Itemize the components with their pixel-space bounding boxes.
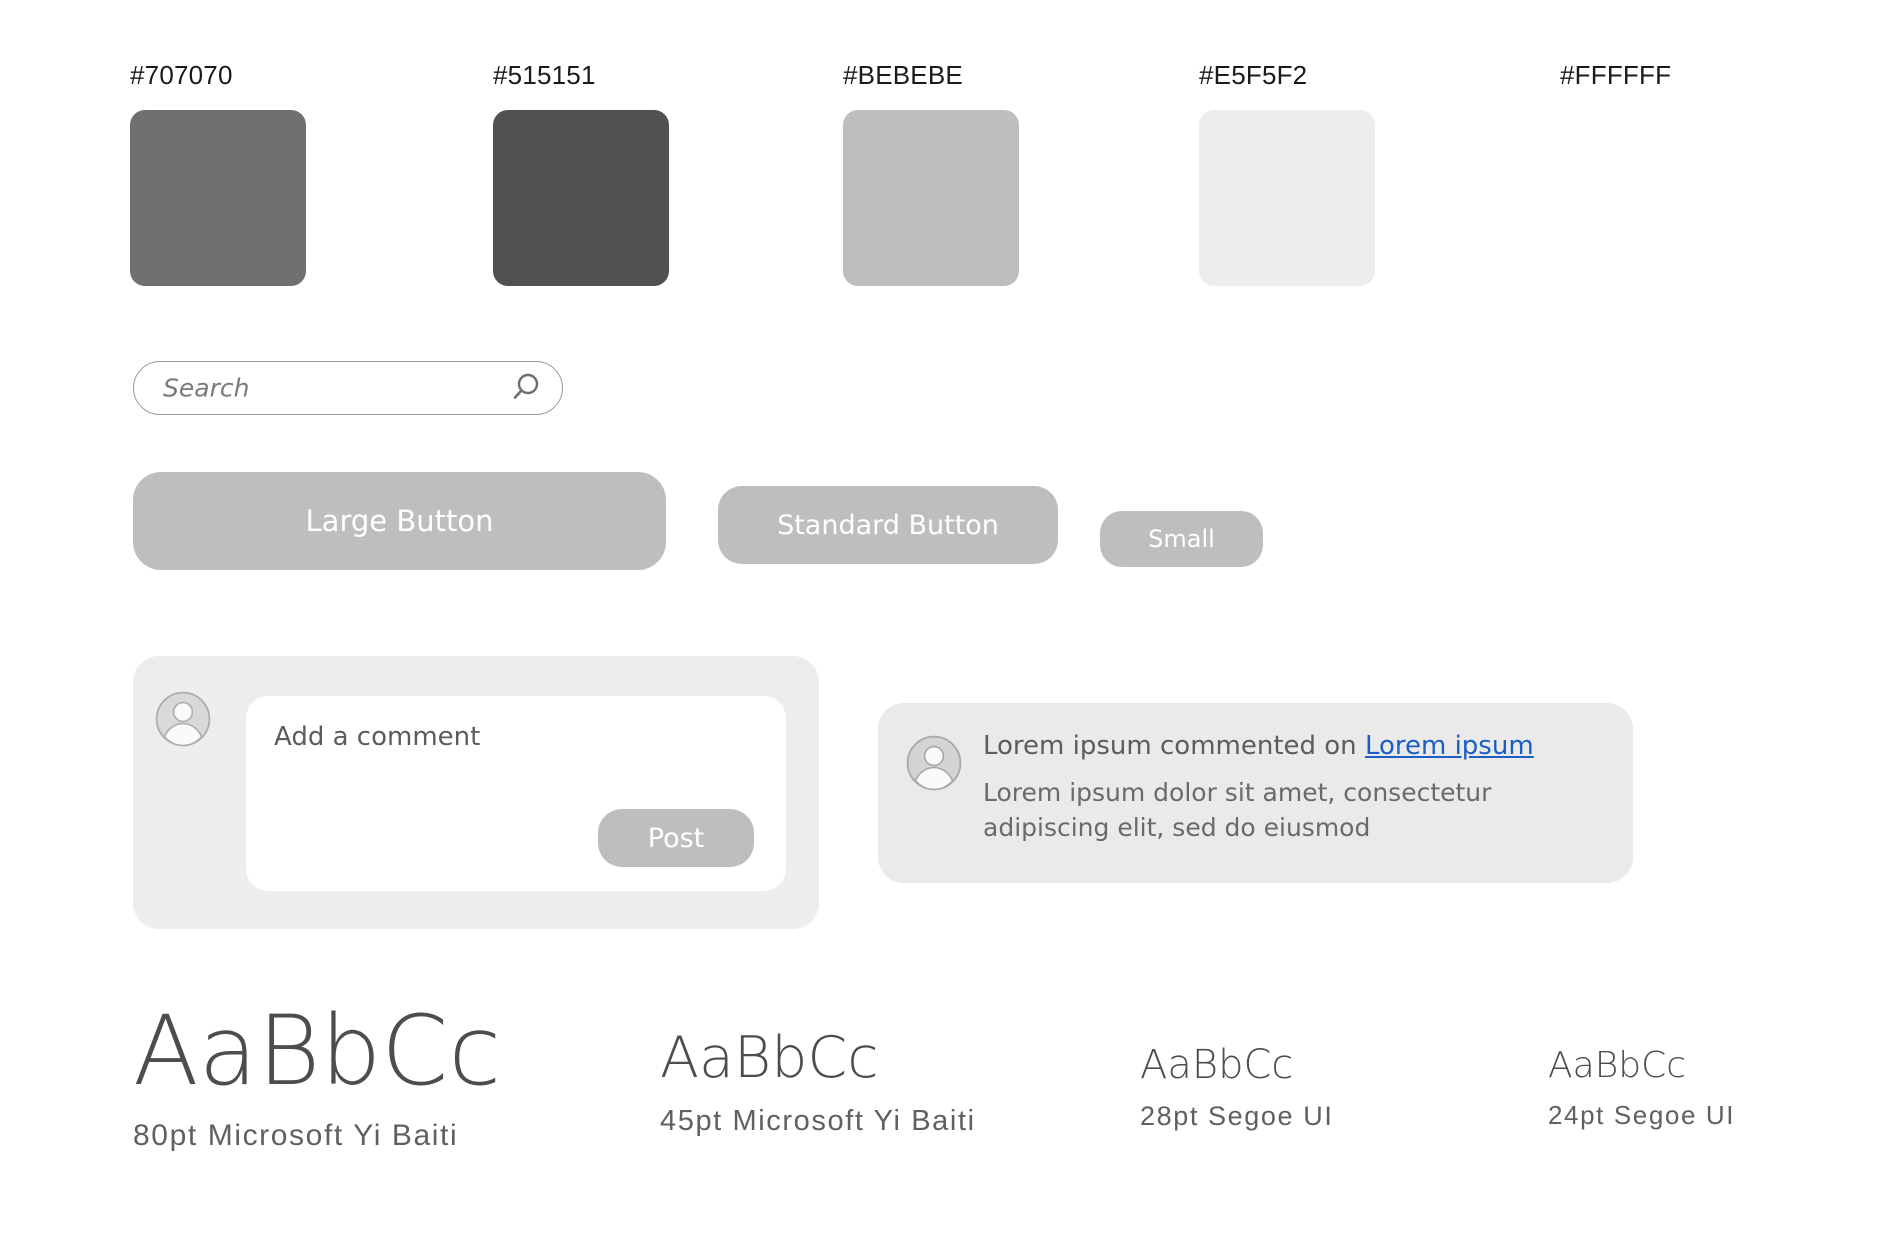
color-swatch-label: #515151	[493, 62, 669, 88]
type-caption: 28pt Segoe UI	[1140, 1103, 1333, 1130]
comment-placeholder: Add a comment	[274, 722, 480, 753]
type-specimen: AaBbCc 24pt Segoe UI	[1548, 1048, 1735, 1128]
type-caption: 24pt Segoe UI	[1548, 1102, 1735, 1128]
type-specimen: AaBbCc 28pt Segoe UI	[1140, 1045, 1333, 1130]
color-swatch-cell[interactable]: #BEBEBE	[843, 62, 1019, 286]
type-specimen: AaBbCc 80pt Microsoft Yi Baiti	[133, 1003, 501, 1151]
color-swatch-label: #707070	[130, 62, 306, 88]
type-specimen: AaBbCc 45pt Microsoft Yi Baiti	[660, 1030, 976, 1136]
color-swatch-cell[interactable]: #707070	[130, 62, 306, 286]
large-button[interactable]: Large Button	[133, 472, 666, 570]
search-input[interactable]: Search	[133, 361, 563, 415]
type-caption: 80pt Microsoft Yi Baiti	[133, 1121, 501, 1151]
color-swatch-box[interactable]	[1199, 110, 1375, 286]
user-avatar-icon	[155, 691, 211, 747]
search-icon[interactable]	[508, 371, 542, 405]
color-swatch-cell[interactable]: #515151	[493, 62, 669, 286]
color-palette-section: #707070 #515151 #BEBEBE #E5F5F2 #FFFFFF	[0, 0, 1902, 300]
color-swatch-cell[interactable]: #E5F5F2	[1199, 62, 1375, 286]
type-sample: AaBbCc	[1548, 1048, 1735, 1084]
notification-body: Lorem ipsum commented on Lorem ipsum Lor…	[983, 730, 1613, 845]
type-sample: AaBbCc	[133, 1003, 501, 1099]
notification-title-prefix: Lorem ipsum commented on	[983, 731, 1365, 761]
notification-link[interactable]: Lorem ipsum	[1365, 731, 1534, 761]
type-sample: AaBbCc	[660, 1030, 976, 1087]
small-button[interactable]: Small	[1100, 511, 1263, 567]
color-swatch-box[interactable]	[1560, 110, 1736, 286]
comment-composer: Add a comment Post	[133, 656, 819, 929]
notification-text: Lorem ipsum dolor sit amet, consectetur …	[983, 776, 1503, 845]
color-swatch-box[interactable]	[493, 110, 669, 286]
user-avatar-icon	[906, 735, 962, 791]
color-swatch-label: #BEBEBE	[843, 62, 1019, 88]
standard-button[interactable]: Standard Button	[718, 486, 1058, 564]
notification-card[interactable]: Lorem ipsum commented on Lorem ipsum Lor…	[878, 703, 1633, 883]
search-placeholder: Search	[163, 376, 249, 401]
color-swatch-label: #FFFFFF	[1560, 62, 1736, 88]
type-caption: 45pt Microsoft Yi Baiti	[660, 1107, 976, 1136]
color-swatch-label: #E5F5F2	[1199, 62, 1375, 88]
color-swatch-cell[interactable]: #FFFFFF	[1560, 62, 1736, 286]
comment-textarea[interactable]: Add a comment Post	[246, 696, 786, 891]
notification-title: Lorem ipsum commented on Lorem ipsum	[983, 730, 1613, 763]
type-sample: AaBbCc	[1140, 1045, 1333, 1085]
color-swatch-box[interactable]	[130, 110, 306, 286]
color-swatch-box[interactable]	[843, 110, 1019, 286]
post-button[interactable]: Post	[598, 809, 754, 867]
